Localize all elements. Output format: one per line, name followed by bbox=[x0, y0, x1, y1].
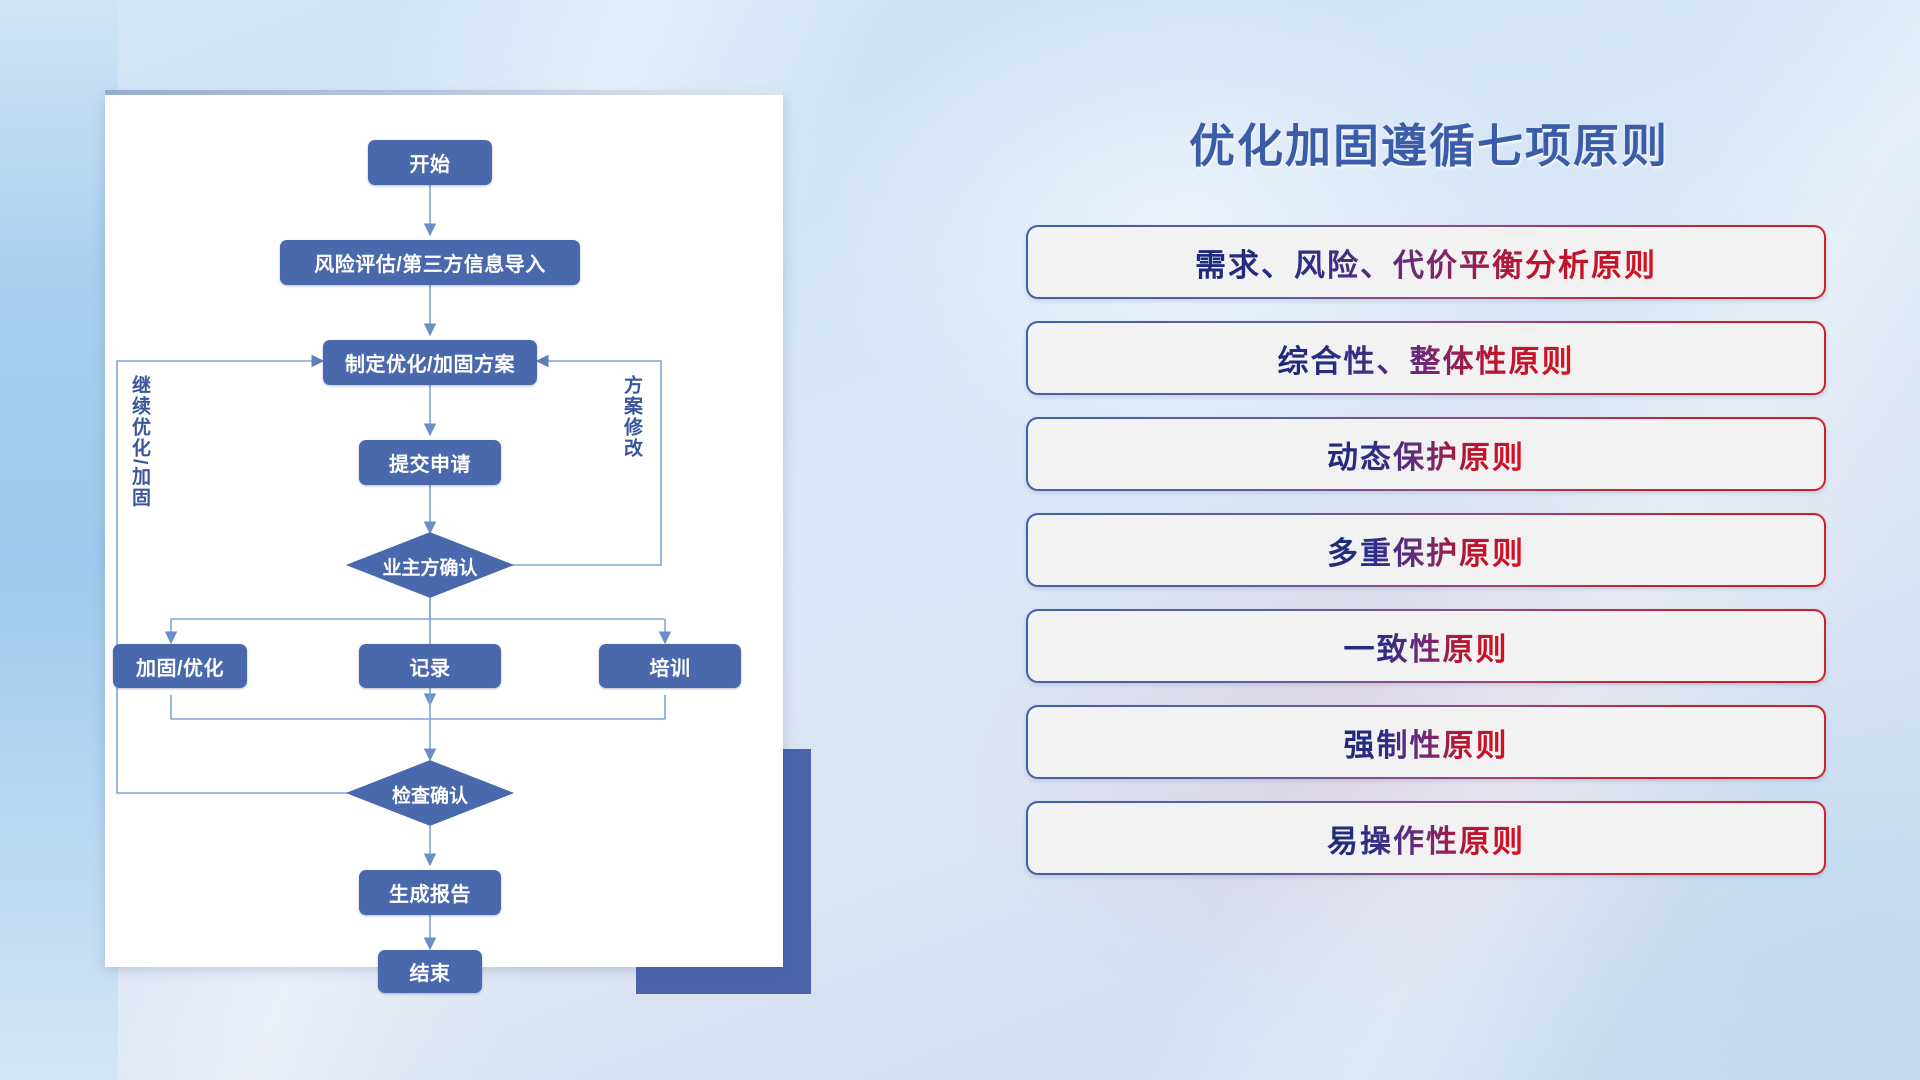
flow-edge-label-continue-optimize: 继续优化/加固 bbox=[129, 375, 149, 508]
principle-item-5-label: 一致性原则 bbox=[1344, 624, 1509, 669]
principle-item-1-body: 需求、风险、代价平衡分析原则 bbox=[1028, 227, 1824, 297]
flowchart-connectors bbox=[105, 95, 783, 967]
principle-item-7[interactable]: 易操作性原则 bbox=[1026, 801, 1826, 875]
principle-item-6-label: 强制性原则 bbox=[1344, 720, 1509, 765]
principle-item-4-body: 多重保护原则 bbox=[1028, 515, 1824, 585]
flow-node-reinforce[interactable]: 加固/优化 bbox=[113, 644, 247, 688]
flow-node-risk-assessment-label: 风险评估/第三方信息导入 bbox=[314, 248, 546, 277]
flow-node-report-label: 生成报告 bbox=[389, 878, 471, 907]
flow-node-report[interactable]: 生成报告 bbox=[359, 870, 501, 915]
flow-edge-label-plan-revision: 方案修改 bbox=[621, 375, 641, 459]
flow-node-reinforce-label: 加固/优化 bbox=[136, 652, 224, 681]
principle-item-6-body: 强制性原则 bbox=[1028, 707, 1824, 777]
flow-node-plan[interactable]: 制定优化/加固方案 bbox=[323, 340, 537, 385]
principle-item-4[interactable]: 多重保护原则 bbox=[1026, 513, 1826, 587]
principles-panel: 优化加固遵循七项原则 需求、风险、代价平衡分析原则 综合性、整体性原则 动态保护… bbox=[1020, 95, 1838, 995]
flow-node-submit[interactable]: 提交申请 bbox=[359, 440, 501, 485]
principle-item-3-label: 动态保护原则 bbox=[1327, 432, 1525, 477]
flow-node-training-label: 培训 bbox=[650, 652, 691, 681]
principle-item-2[interactable]: 综合性、整体性原则 bbox=[1026, 321, 1826, 395]
flow-node-plan-label: 制定优化/加固方案 bbox=[345, 348, 515, 377]
flow-node-start-label: 开始 bbox=[410, 148, 451, 177]
flow-node-training[interactable]: 培训 bbox=[599, 644, 741, 688]
principle-item-6[interactable]: 强制性原则 bbox=[1026, 705, 1826, 779]
flow-node-end-label: 结束 bbox=[410, 957, 451, 986]
flow-node-risk-assessment[interactable]: 风险评估/第三方信息导入 bbox=[280, 240, 580, 285]
flow-node-record[interactable]: 记录 bbox=[359, 644, 501, 688]
principle-item-5[interactable]: 一致性原则 bbox=[1026, 609, 1826, 683]
flow-node-record-label: 记录 bbox=[410, 652, 451, 681]
background-left-band bbox=[0, 0, 118, 1080]
flow-node-end[interactable]: 结束 bbox=[378, 950, 482, 993]
principles-list: 需求、风险、代价平衡分析原则 综合性、整体性原则 动态保护原则 多重保护原则 bbox=[1026, 225, 1826, 897]
principle-item-2-label: 综合性、整体性原则 bbox=[1278, 336, 1575, 381]
principle-item-1-label: 需求、风险、代价平衡分析原则 bbox=[1195, 240, 1657, 285]
principle-item-3[interactable]: 动态保护原则 bbox=[1026, 417, 1826, 491]
flow-node-owner-confirm-label: 业主方确认 bbox=[382, 558, 477, 579]
principle-item-2-body: 综合性、整体性原则 bbox=[1028, 323, 1824, 393]
flowchart: 开始 风险评估/第三方信息导入 制定优化/加固方案 提交申请 业主方确认 加固/… bbox=[105, 95, 783, 967]
principle-item-4-label: 多重保护原则 bbox=[1327, 528, 1525, 573]
flowchart-card: 开始 风险评估/第三方信息导入 制定优化/加固方案 提交申请 业主方确认 加固/… bbox=[105, 95, 783, 967]
flow-node-check-confirm-label: 检查确认 bbox=[392, 786, 468, 807]
slide-canvas: 开始 风险评估/第三方信息导入 制定优化/加固方案 提交申请 业主方确认 加固/… bbox=[0, 0, 1920, 1080]
flow-node-start[interactable]: 开始 bbox=[368, 140, 492, 185]
principle-item-3-body: 动态保护原则 bbox=[1028, 419, 1824, 489]
flow-node-submit-label: 提交申请 bbox=[389, 448, 471, 477]
principle-item-5-body: 一致性原则 bbox=[1028, 611, 1824, 681]
panel-title: 优化加固遵循七项原则 bbox=[1020, 110, 1838, 176]
principle-item-7-label: 易操作性原则 bbox=[1327, 816, 1525, 861]
flow-node-check-confirm[interactable]: 检查确认 bbox=[350, 781, 510, 808]
principle-item-7-body: 易操作性原则 bbox=[1028, 803, 1824, 873]
flow-node-owner-confirm[interactable]: 业主方确认 bbox=[350, 553, 510, 580]
principle-item-1[interactable]: 需求、风险、代价平衡分析原则 bbox=[1026, 225, 1826, 299]
